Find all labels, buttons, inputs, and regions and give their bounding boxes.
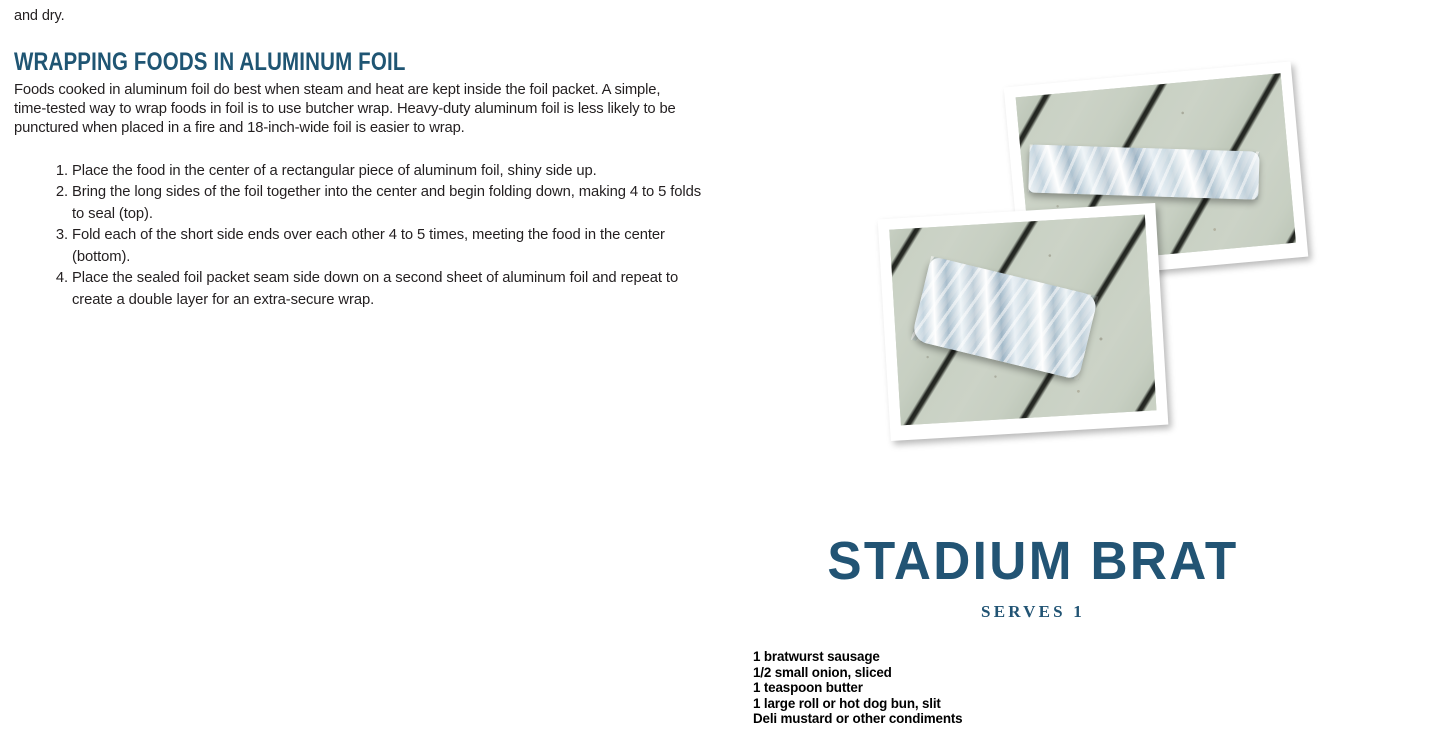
list-item: 1. Place the food in the center of a rec… (14, 161, 704, 183)
list-item-text: Bring the long sides of the foil togethe… (72, 184, 701, 222)
foil-packet-bottom-photo (878, 203, 1169, 441)
list-item-number: 1. (50, 161, 68, 183)
list-item-text: Place the sealed foil packet seam side d… (72, 270, 678, 308)
section-heading: WRAPPING FOODS IN ALUMINUM FOIL (14, 26, 588, 76)
list-item: 1/2 small onion, sliced (753, 665, 1313, 681)
foil-packet-bottom-photo-image (889, 215, 1156, 426)
list-item: Deli mustard or other condiments (753, 711, 1313, 727)
left-text-column: and dry. WRAPPING FOODS IN ALUMINUM FOIL… (14, 0, 714, 311)
intro-paragraph: Foods cooked in aluminum foil do best wh… (14, 76, 694, 139)
list-item-number: 4. (50, 268, 68, 290)
list-item: 1 bratwurst sausage (753, 649, 1313, 665)
list-item-text: Place the food in the center of a rectan… (72, 163, 597, 179)
list-item-number: 3. (50, 225, 68, 247)
list-item: 3. Fold each of the short side ends over… (14, 225, 704, 268)
list-item-number: 2. (50, 182, 68, 204)
list-item: 4. Place the sealed foil packet seam sid… (14, 268, 704, 311)
continued-text: and dry. (14, 0, 714, 26)
list-item-text: Fold each of the short side ends over ea… (72, 227, 665, 265)
recipe-serves: SERVES 1 (753, 590, 1313, 622)
recipe-title: STADIUM BRAT (767, 520, 1299, 590)
list-item: 1 teaspoon butter (753, 680, 1313, 696)
wrapping-steps-list: 1. Place the food in the center of a rec… (14, 139, 704, 312)
ingredients-list: 1 bratwurst sausage 1/2 small onion, sli… (753, 622, 1313, 727)
list-item: 1 large roll or hot dog bun, slit (753, 696, 1313, 712)
foil-packet-shape (1028, 144, 1259, 199)
recipe-block: STADIUM BRAT SERVES 1 1 bratwurst sausag… (753, 520, 1313, 727)
list-item: 2. Bring the long sides of the foil toge… (14, 182, 704, 225)
